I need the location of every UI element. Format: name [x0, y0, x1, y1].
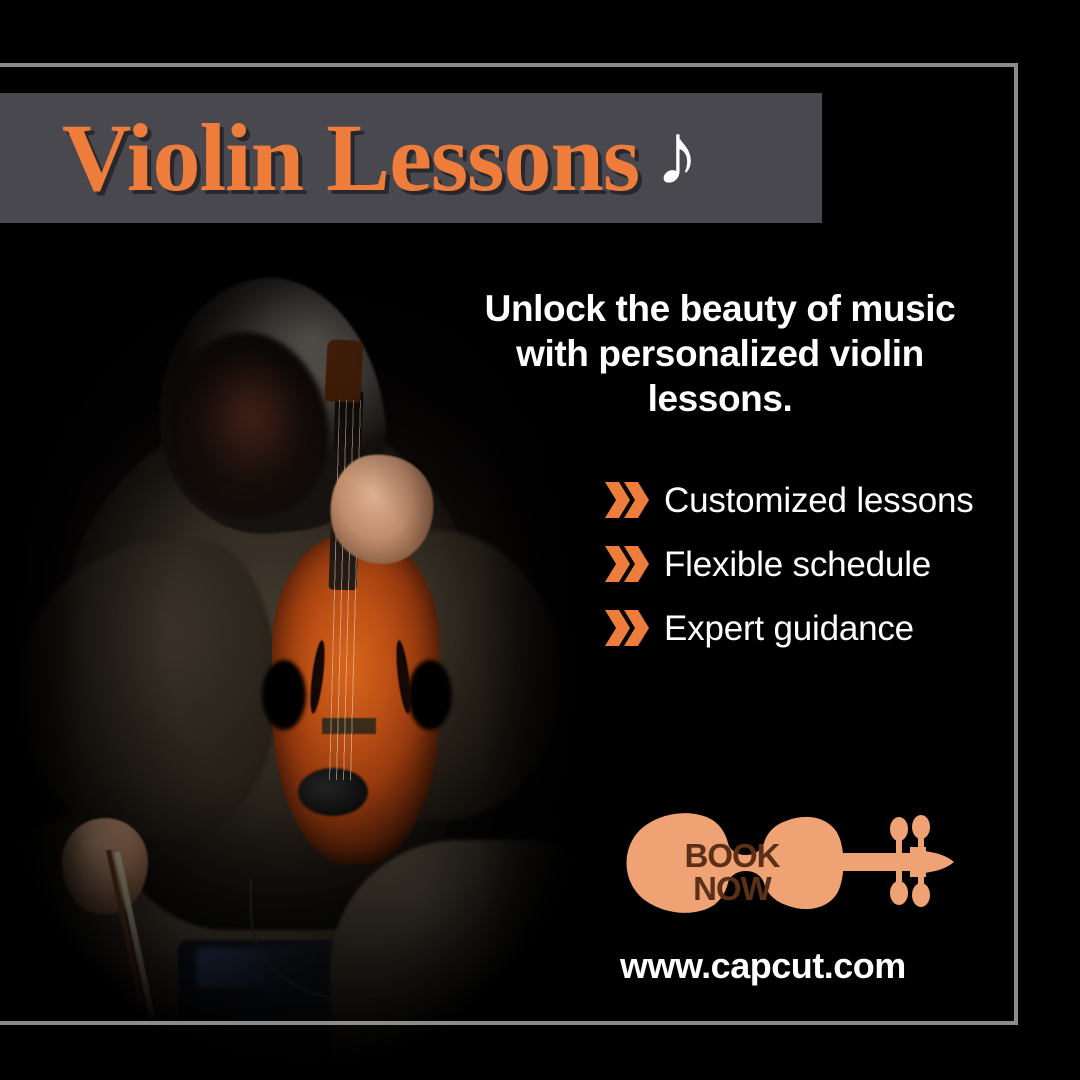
double-chevron-right-icon	[604, 480, 650, 520]
book-now-label: BOOK NOW	[642, 839, 822, 905]
website-url[interactable]: www.capcut.com	[620, 948, 906, 984]
benefits-list: Customized lessons Flexible schedule Exp…	[604, 468, 1004, 660]
book-now-button[interactable]: BOOK NOW	[610, 795, 960, 925]
poster-canvas: Violin Lessons ♪ Unlock the beauty of mu…	[0, 0, 1080, 1080]
double-chevron-right-icon	[604, 544, 650, 584]
page-title: Violin Lessons	[62, 110, 639, 206]
list-item: Customized lessons	[604, 468, 1004, 532]
title-band: Violin Lessons ♪	[0, 93, 822, 223]
benefit-label: Flexible schedule	[664, 547, 931, 582]
double-chevron-right-icon	[604, 608, 650, 648]
list-item: Expert guidance	[604, 596, 1004, 660]
music-note-icon: ♪	[655, 110, 699, 198]
benefit-label: Customized lessons	[664, 483, 974, 518]
headline-text: Unlock the beauty of music with personal…	[470, 286, 970, 421]
list-item: Flexible schedule	[604, 532, 1004, 596]
benefit-label: Expert guidance	[664, 611, 914, 646]
